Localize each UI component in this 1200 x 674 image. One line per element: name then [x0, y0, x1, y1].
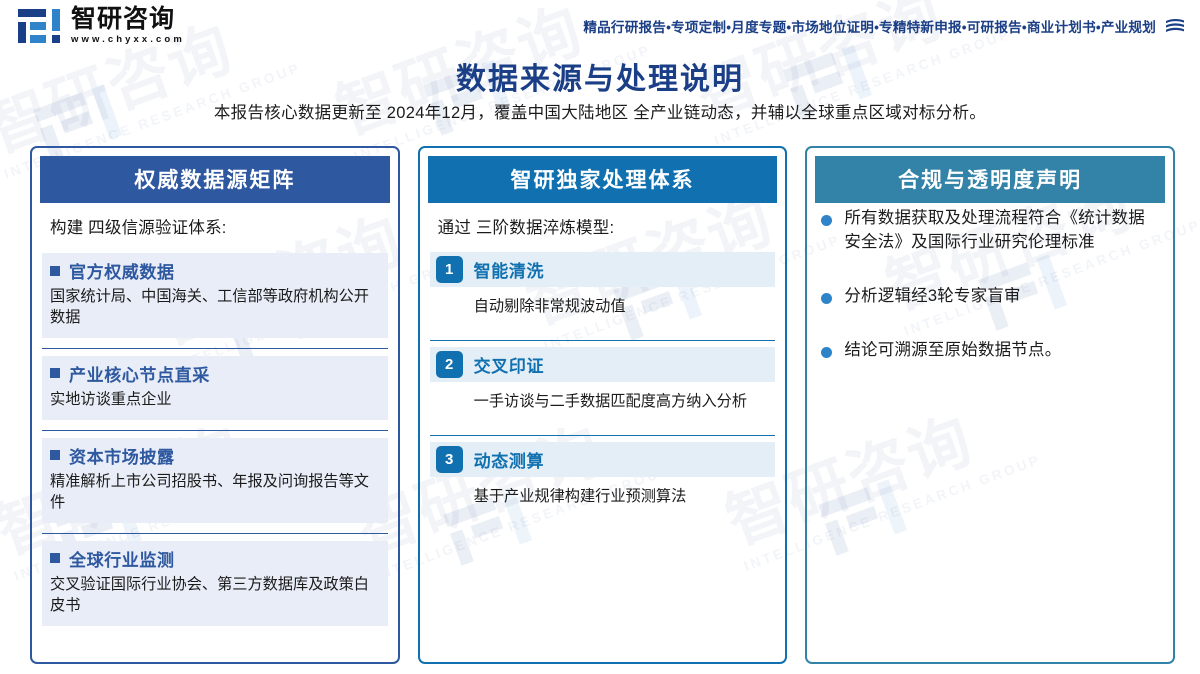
item-description: 一手访谈与二手数据匹配度高方纳入分析	[430, 382, 776, 423]
square-bullet-icon	[50, 450, 60, 460]
bullet-dot-icon	[821, 293, 832, 304]
item-description: 基于产业规律构建行业预测算法	[430, 477, 776, 518]
card-intro: 构建 四级信源验证体系:	[32, 203, 398, 246]
card-intro: 通过 三阶数据淬炼模型:	[420, 203, 786, 246]
list-item[interactable]: 所有数据获取及处理流程符合《统计数据安全法》及国际行业研究伦理标准	[821, 207, 1159, 255]
cards-row: 权威数据源矩阵 构建 四级信源验证体系: 官方权威数据 国家统计局、中国海关、工…	[30, 146, 1175, 664]
list-item[interactable]: 全球行业监测 交叉验证国际行业协会、第三方数据库及政策白皮书	[42, 533, 388, 629]
item-title: 全球行业监测	[69, 546, 175, 571]
card-title: 合规与透明度声明	[815, 156, 1165, 203]
item-description: 实地访谈重点企业	[42, 390, 388, 420]
item-description: 交叉验证国际行业协会、第三方数据库及政策白皮书	[42, 575, 388, 626]
item-title: 官方权威数据	[69, 258, 175, 283]
item-description: 国家统计局、中国海关、工信部等政府机构公开数据	[42, 287, 388, 338]
top-nav: 精品行研报告•专项定制•月度专题•市场地位证明•专精特新申报•可研报告•商业计划…	[583, 16, 1186, 36]
list-item[interactable]: 3 动态测算 基于产业规律构建行业预测算法	[430, 435, 776, 521]
item-title: 资本市场披露	[69, 443, 175, 468]
list-item[interactable]: 分析逻辑经3轮专家盲审	[821, 285, 1159, 309]
card-body: 所有数据获取及处理流程符合《统计数据安全法》及国际行业研究伦理标准 分析逻辑经3…	[807, 203, 1173, 363]
list-item[interactable]: 1 智能清洗 自动剔除非常规波动值	[430, 246, 776, 331]
card-compliance-statement: 合规与透明度声明 所有数据获取及处理流程符合《统计数据安全法》及国际行业研究伦理…	[805, 146, 1175, 664]
item-description: 所有数据获取及处理流程符合《统计数据安全法》及国际行业研究伦理标准	[844, 207, 1159, 255]
page-subtitle: 本报告核心数据更新至 2024年12月，覆盖中国大陆地区 全产业链动态，并辅以全…	[0, 99, 1200, 123]
item-title: 动态测算	[474, 447, 544, 472]
item-title: 交叉印证	[474, 352, 544, 377]
slide-page: 智研咨询INTELLIGENCE RESEARCH GROUP 智研咨询INTE…	[0, 0, 1200, 674]
card-title: 智研独家处理体系	[428, 156, 778, 203]
brand-url: www.chyxx.com	[71, 34, 185, 45]
brand-logo[interactable]: 智研咨询 www.chyxx.com	[18, 7, 185, 46]
step-number-badge: 1	[436, 256, 463, 283]
top-bar: 智研咨询 www.chyxx.com 精品行研报告•专项定制•月度专题•市场地位…	[0, 0, 1200, 52]
list-item[interactable]: 2 交叉印证 一手访谈与二手数据匹配度高方纳入分析	[430, 340, 776, 426]
list-item[interactable]: 产业核心节点直采 实地访谈重点企业	[42, 348, 388, 423]
list-item[interactable]: 官方权威数据 国家统计局、中国海关、工信部等政府机构公开数据	[42, 246, 388, 341]
bullet-dot-icon	[821, 215, 832, 226]
item-title: 智能清洗	[474, 257, 544, 282]
brand-name: 智研咨询	[71, 7, 185, 33]
item-description: 分析逻辑经3轮专家盲审	[844, 285, 1020, 309]
item-description: 精准解析上市公司招股书、年报及问询报告等文件	[42, 472, 388, 523]
card-processing-system: 智研独家处理体系 通过 三阶数据淬炼模型: 1 智能清洗 自动剔除非常规波动值 …	[418, 146, 788, 664]
list-item[interactable]: 结论可溯源至原始数据节点。	[821, 339, 1159, 363]
card-body: 官方权威数据 国家统计局、中国海关、工信部等政府机构公开数据 产业核心节点直采 …	[32, 246, 398, 629]
card-body: 1 智能清洗 自动剔除非常规波动值 2 交叉印证 一手访谈与二手数据匹配度高方纳…	[420, 246, 786, 521]
square-bullet-icon	[50, 368, 60, 378]
square-bullet-icon	[50, 553, 60, 563]
zhiyan-logo-icon	[18, 9, 62, 43]
wave-menu-icon[interactable]	[1164, 18, 1186, 34]
top-nav-text: 精品行研报告•专项定制•月度专题•市场地位证明•专精特新申报•可研报告•商业计划…	[583, 16, 1156, 36]
item-title: 产业核心节点直采	[69, 361, 210, 386]
item-description: 结论可溯源至原始数据节点。	[844, 339, 1061, 363]
card-authoritative-sources: 权威数据源矩阵 构建 四级信源验证体系: 官方权威数据 国家统计局、中国海关、工…	[30, 146, 400, 664]
item-description: 自动剔除非常规波动值	[430, 287, 776, 328]
list-item[interactable]: 资本市场披露 精准解析上市公司招股书、年报及问询报告等文件	[42, 430, 388, 526]
bullet-dot-icon	[821, 347, 832, 358]
step-number-badge: 2	[436, 351, 463, 378]
page-title: 数据来源与处理说明	[0, 54, 1200, 98]
card-title: 权威数据源矩阵	[40, 156, 390, 203]
step-number-badge: 3	[436, 446, 463, 473]
square-bullet-icon	[50, 266, 60, 276]
